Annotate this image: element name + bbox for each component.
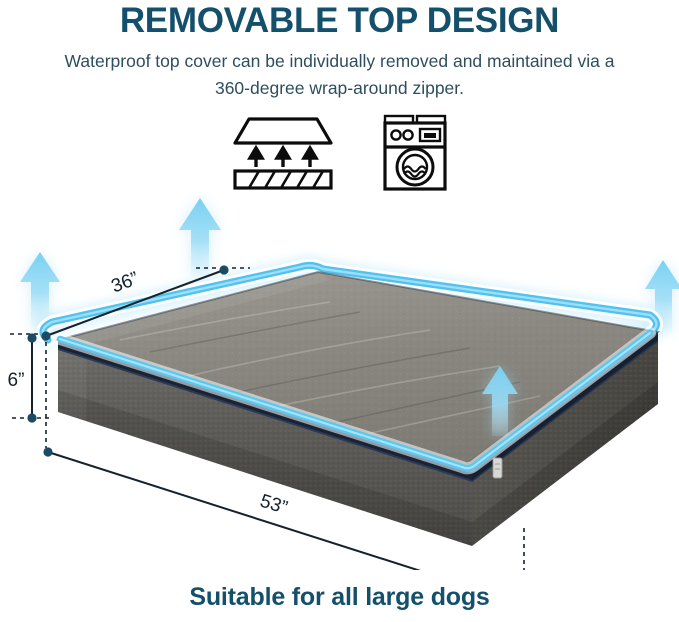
footer-tagline: Suitable for all large dogs bbox=[0, 583, 679, 612]
washing-machine-icon bbox=[379, 113, 451, 198]
feature-icons bbox=[0, 112, 679, 198]
dimension-width-label: 36” bbox=[109, 268, 142, 297]
dimension-height-label: 6” bbox=[8, 370, 25, 391]
lift-arrow-top bbox=[179, 198, 221, 276]
page-title: REMOVABLE TOP DESIGN bbox=[0, 2, 679, 41]
removable-cover-icon bbox=[229, 115, 337, 196]
zipper-pull-icon bbox=[493, 458, 502, 478]
page-subtitle: Waterproof top cover can be individually… bbox=[60, 48, 619, 102]
dimension-length-label: 53” bbox=[257, 491, 290, 519]
product-illustration: 36” 6” 53” bbox=[0, 190, 679, 570]
dog-bed bbox=[58, 272, 658, 570]
infographic-page: REMOVABLE TOP DESIGN Waterproof top cove… bbox=[0, 0, 679, 622]
dimension-height: 6” bbox=[8, 333, 52, 448]
